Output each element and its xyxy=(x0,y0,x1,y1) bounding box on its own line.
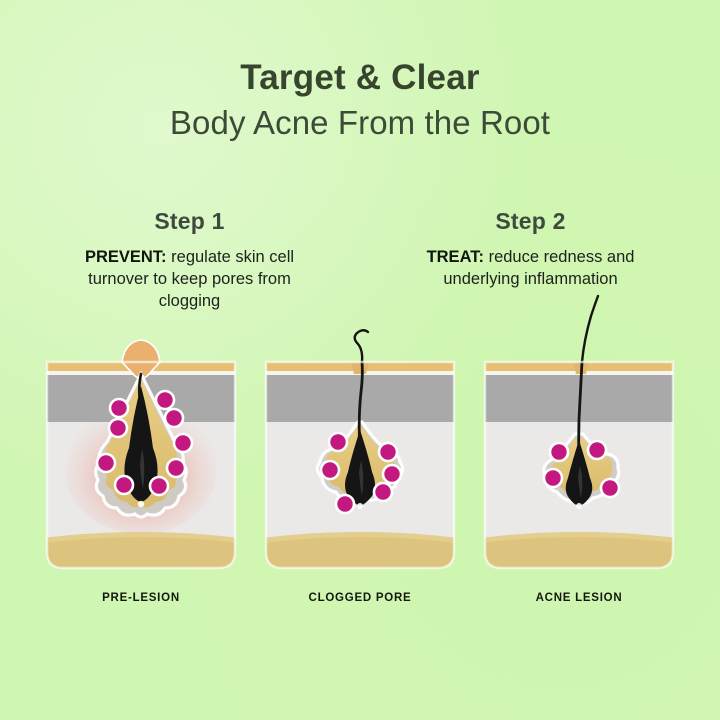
step-2-keyword: TREAT: xyxy=(427,248,484,266)
bacteria-dot xyxy=(165,409,183,427)
skin-diagram-acne-lesion xyxy=(481,330,677,590)
skin-diagram-row xyxy=(0,330,720,590)
caption-clogged-pore: CLOGGED PORE xyxy=(262,592,458,604)
bacteria-dot xyxy=(150,477,168,495)
bacteria-dot xyxy=(383,465,401,483)
caption-acne-lesion: ACNE LESION xyxy=(481,592,677,604)
hair-above-surface xyxy=(355,330,368,362)
bacteria-dot xyxy=(115,476,133,494)
skin-diagram-clogged-pore xyxy=(262,330,458,590)
step-2: Step 2 TREAT: reduce redness and underly… xyxy=(398,208,663,312)
step-1-keyword: PREVENT: xyxy=(85,248,167,266)
bacteria-dot xyxy=(379,443,397,461)
infographic-canvas: Target & Clear Body Acne From the Root S… xyxy=(0,0,720,720)
page-title: Target & Clear xyxy=(0,58,720,97)
follicle-papilla xyxy=(576,503,582,509)
bacteria-dot xyxy=(374,483,392,501)
bacteria-dot xyxy=(588,441,606,459)
step-1: Step 1 PREVENT: regulate skin cell turno… xyxy=(57,208,322,312)
step-1-body: PREVENT: regulate skin cell turnover to … xyxy=(57,247,322,312)
follicle-papilla xyxy=(138,501,144,507)
bacteria-dot xyxy=(329,433,347,451)
bacteria-dot xyxy=(97,454,115,472)
step-2-body: TREAT: reduce redness and underlying inf… xyxy=(398,247,663,291)
bacteria-dot xyxy=(601,479,619,497)
bacteria-dot xyxy=(109,419,127,437)
page-subtitle: Body Acne From the Root xyxy=(0,103,720,143)
bacteria-dot xyxy=(110,399,128,417)
header: Target & Clear Body Acne From the Root xyxy=(0,58,720,143)
bacteria-dot xyxy=(174,434,192,452)
bacteria-dot xyxy=(321,461,339,479)
step-1-heading: Step 1 xyxy=(57,208,322,235)
bacteria-dot xyxy=(336,495,354,513)
follicle-papilla xyxy=(357,503,363,509)
caption-pre-lesion: PRE-LESION xyxy=(43,592,239,604)
caption-row: PRE-LESION CLOGGED PORE ACNE LESION xyxy=(0,592,720,604)
bacteria-dot xyxy=(167,459,185,477)
bacteria-dot xyxy=(156,391,174,409)
bacteria-dot xyxy=(550,443,568,461)
steps-row: Step 1 PREVENT: regulate skin cell turno… xyxy=(40,208,680,312)
bacteria-dot xyxy=(544,469,562,487)
step-2-heading: Step 2 xyxy=(398,208,663,235)
skin-diagram-pre-lesion xyxy=(43,330,239,590)
